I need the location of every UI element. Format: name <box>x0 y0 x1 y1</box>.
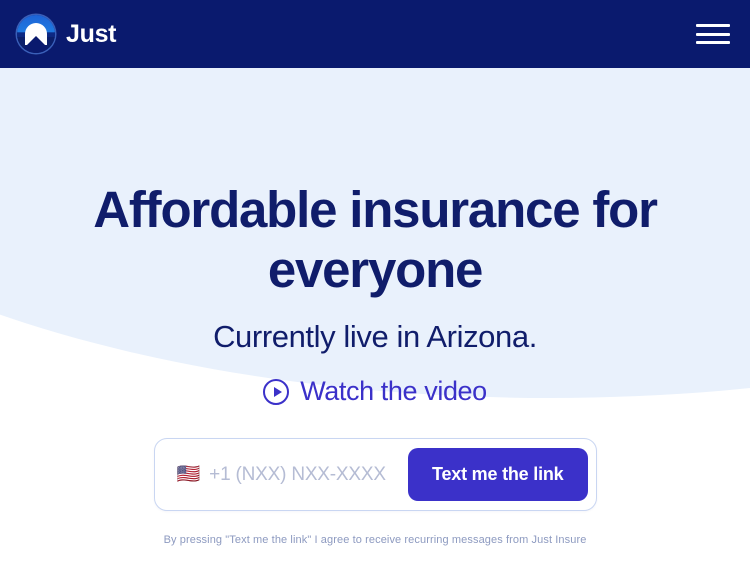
phone-signup-form: 🇺🇸 Text me the link <box>154 438 597 511</box>
brand-name: Just <box>66 22 116 47</box>
watch-video-label: Watch the video <box>300 376 487 407</box>
phone-number-input[interactable] <box>209 464 408 486</box>
text-me-the-link-button[interactable]: Text me the link <box>408 448 588 501</box>
just-mountain-logo-icon <box>17 15 55 53</box>
hamburger-menu-icon[interactable] <box>696 21 730 47</box>
site-header: Just <box>0 0 750 68</box>
hamburger-line-2 <box>696 33 730 36</box>
hero-content: Affordable insurance for everyone Curren… <box>0 68 750 546</box>
page-title: Affordable insurance for everyone <box>75 180 675 300</box>
form-disclaimer: By pressing "Text me the link" I agree t… <box>0 534 750 546</box>
play-circle-icon <box>263 379 289 405</box>
logo-mountain-shape <box>19 36 53 53</box>
watch-video-link[interactable]: Watch the video <box>0 376 750 407</box>
hero-section: Affordable insurance for everyone Curren… <box>0 68 750 563</box>
brand-logo-link[interactable]: Just <box>17 15 116 53</box>
us-flag-icon[interactable]: 🇺🇸 <box>177 465 201 484</box>
hamburger-line-3 <box>696 41 730 44</box>
hero-subtitle: Currently live in Arizona. <box>0 319 750 355</box>
hamburger-line-1 <box>696 24 730 27</box>
